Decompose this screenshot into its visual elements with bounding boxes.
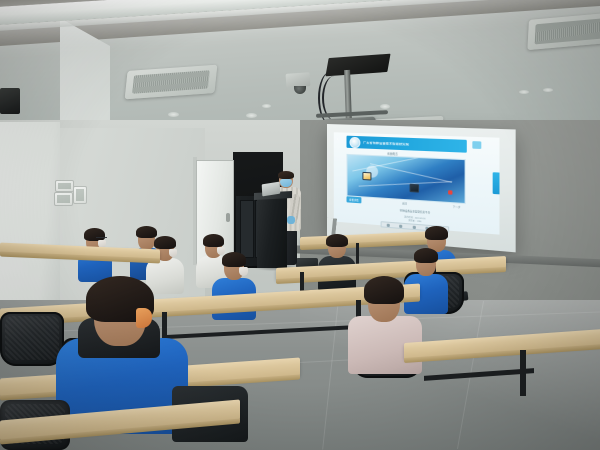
presenter-hand: [287, 216, 295, 224]
ghost-button[interactable]: 返回: [399, 199, 410, 206]
downlight: [543, 88, 553, 92]
hair: [154, 236, 176, 249]
search-icon[interactable]: [400, 224, 403, 227]
map-flag-icon: [448, 191, 452, 196]
map-line: [352, 157, 420, 172]
light-switch-plate[interactable]: [55, 180, 74, 192]
downlight: [168, 112, 179, 117]
left-wall-column: [0, 122, 60, 322]
home-icon[interactable]: [387, 223, 390, 226]
hair: [414, 248, 438, 263]
primary-button[interactable]: 查看详情: [346, 196, 361, 203]
ac-grille: [132, 70, 210, 93]
side-navigation-tab[interactable]: [492, 172, 499, 194]
slide-header: 广东省特种设备技术检验研究院: [346, 136, 467, 153]
face-mask-icon: [239, 267, 248, 276]
cabinet-door[interactable]: [240, 200, 254, 258]
projected-slide: ‹ 广东省特种设备技术检验研究院 系统概览 查看详情 返回 下一步 特种设备安全…: [334, 132, 499, 235]
outlet-face: [57, 195, 70, 203]
chair[interactable]: [0, 312, 64, 366]
map-line: [370, 163, 452, 183]
hair: [203, 234, 224, 247]
meeting-room-photo: ‹ 广东省特种设备技术检验研究院 系统概览 查看详情 返回 下一步 特种设备安全…: [0, 0, 600, 450]
power-outlet-plate[interactable]: [54, 192, 73, 206]
hair: [364, 276, 404, 304]
panel-face: [76, 189, 84, 201]
map-marker[interactable]: [363, 172, 372, 181]
downlight: [262, 104, 271, 108]
map-marker[interactable]: [409, 183, 418, 192]
map-line: [358, 181, 452, 186]
presenter-hair: [278, 171, 294, 179]
secondary-button[interactable]: 下一步: [449, 203, 463, 211]
ac-grille: [535, 18, 600, 45]
glasses-icon: [96, 237, 107, 241]
hair: [326, 234, 348, 247]
slide-header-title: 广东省特种设备技术检验研究院: [363, 141, 464, 148]
back-chevron-icon[interactable]: ‹: [337, 137, 338, 142]
switch-rocker: [58, 183, 71, 189]
hair: [425, 226, 448, 240]
menu-icon[interactable]: [472, 141, 481, 149]
downlight: [380, 104, 390, 109]
downlight: [246, 113, 257, 118]
wall-speaker-icon: [0, 88, 20, 114]
door-handle[interactable]: [226, 213, 230, 222]
control-panel-plate[interactable]: [73, 186, 87, 204]
chair-rim: [0, 312, 64, 366]
organization-logo-icon: [349, 136, 360, 148]
face-mask-icon: [169, 249, 177, 257]
hair: [222, 252, 246, 267]
downlight: [519, 90, 529, 94]
podium: [257, 196, 287, 268]
